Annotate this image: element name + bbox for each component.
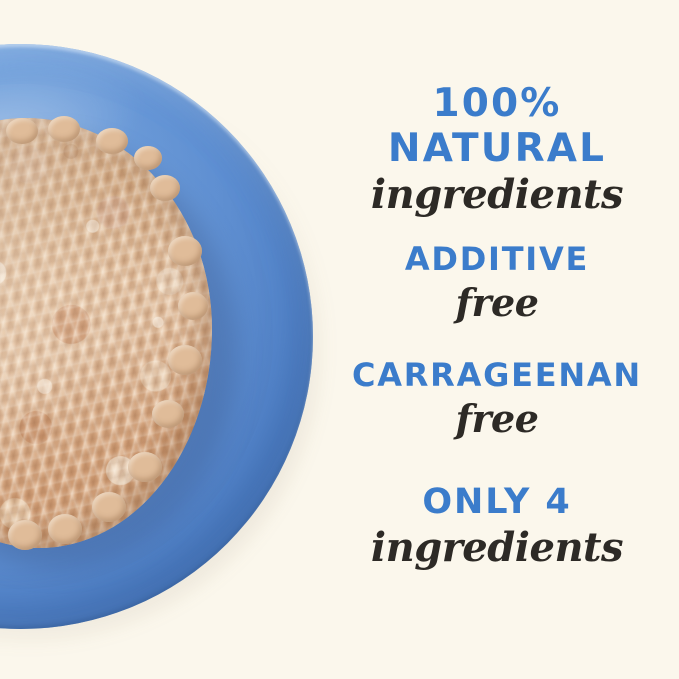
claim-additive-free: ADDITIVE free: [315, 243, 679, 322]
claim-natural: 100% NATURAL ingredients: [315, 84, 679, 215]
claim-natural-script: ingredients: [315, 175, 679, 215]
claim-carrageenan-headline: CARRAGEENAN: [315, 359, 679, 391]
claim-carrageenan-script: free: [315, 400, 679, 438]
claims-list: 100% NATURAL ingredients ADDITIVE free C…: [315, 0, 679, 679]
claim-carrageenan-free: CARRAGEENAN free: [315, 359, 679, 438]
claim-natural-headline-line1: 100%: [315, 84, 679, 123]
product-benefits-panel: 100% NATURAL ingredients ADDITIVE free C…: [0, 0, 679, 679]
claim-only-four: ONLY 4 ingredients: [315, 485, 679, 568]
claim-natural-headline-line2: NATURAL: [315, 129, 679, 168]
claim-only-four-script: ingredients: [315, 528, 679, 568]
claim-additive-headline: ADDITIVE: [315, 243, 679, 275]
product-photo: [0, 0, 340, 679]
shredded-chicken-food: [0, 118, 212, 548]
claim-only-four-headline: ONLY 4: [315, 485, 679, 520]
claim-additive-script: free: [315, 284, 679, 322]
